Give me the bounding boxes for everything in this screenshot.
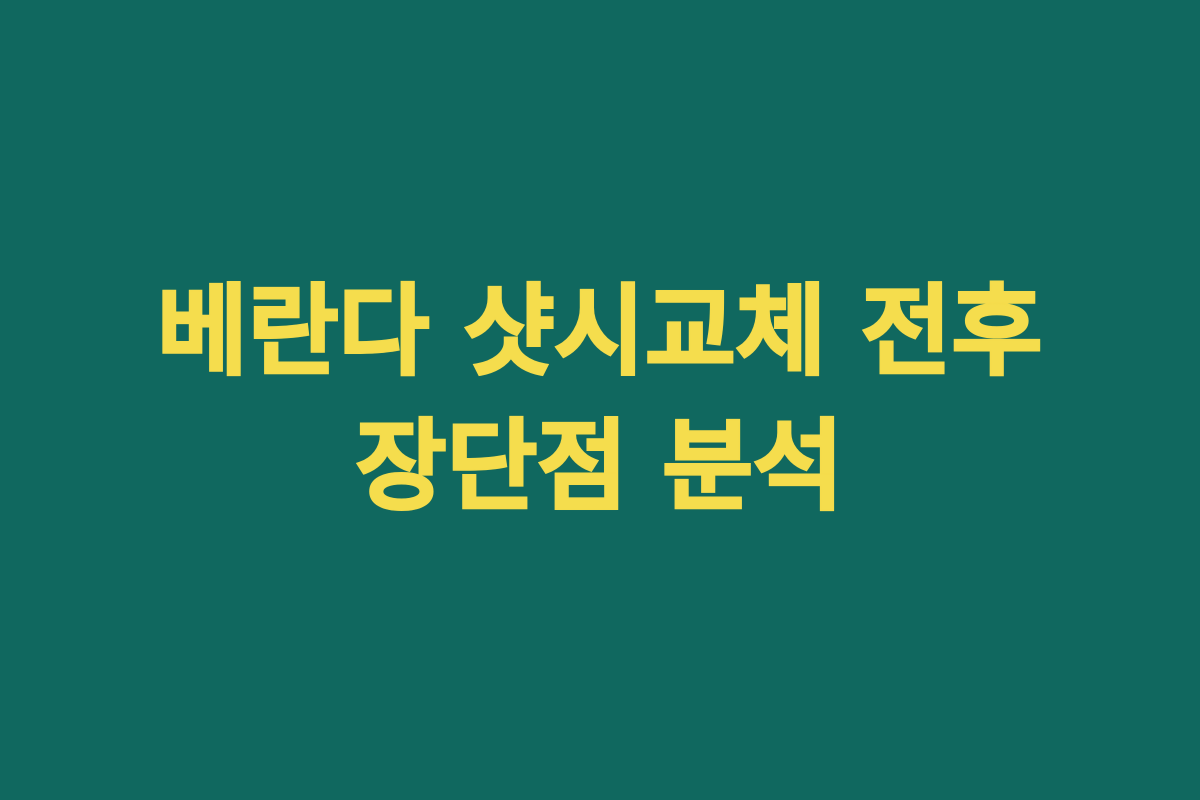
title-banner: 베란다 샷시교체 전후 장단점 분석	[0, 0, 1200, 800]
headline-block: 베란다 샷시교체 전후 장단점 분석	[85, 265, 1115, 535]
page-title: 베란다 샷시교체 전후 장단점 분석	[95, 265, 1105, 535]
